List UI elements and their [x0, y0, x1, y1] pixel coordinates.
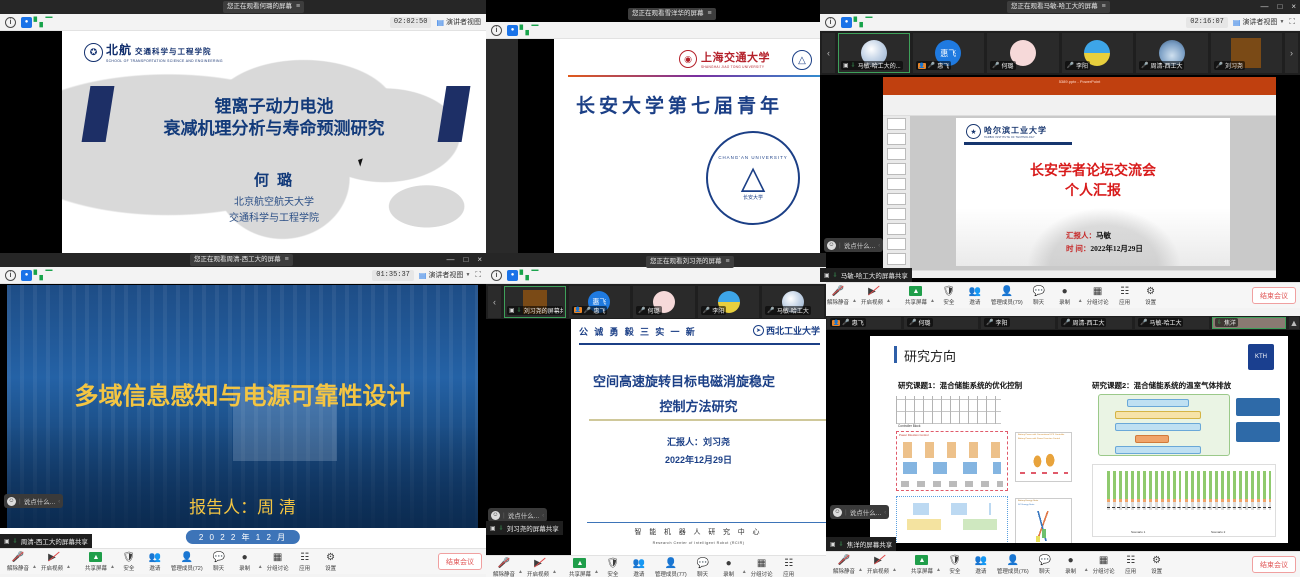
watching-label: 您正在观看周清-西工大的屏幕 — [194, 254, 281, 266]
nwpu-logo: ➤ 西北工业大学 — [753, 324, 820, 337]
record-icon: ● — [242, 552, 248, 563]
changan-small-seal: △ — [792, 50, 812, 70]
host-badge-icon: 👤 — [574, 307, 582, 313]
video-off-icon: ▶ — [48, 552, 56, 563]
hit-logo-en: HARBIN INSTITUTE OF TECHNOLOGY — [984, 136, 1047, 139]
participant-name: 刘习尧的屏幕共享 — [524, 306, 563, 315]
zoom-window-jiao-yang-2[interactable]: 👤 🎤 惠飞 🎤 何璐 🎤 李阳 🎤 — [826, 316, 1300, 577]
buaa-logo-cn: 北航 — [106, 41, 132, 58]
participant-name: 惠飞 — [937, 61, 949, 70]
participant-thumbnail[interactable]: 🎤 何璐 — [633, 286, 695, 318]
video-off-icon: ▶ — [874, 555, 882, 566]
share-screen-icon: ▲ — [909, 286, 922, 296]
mute-button[interactable]: 🎤 解除静音 — [490, 558, 518, 577]
ppt-slide-thumbnails-pane[interactable] — [883, 116, 910, 270]
participant-thumbnail[interactable]: 🎤 周清-西工大 — [1058, 317, 1132, 329]
figure-4-legend-2: Battery Power with Power Direction Contr… — [1018, 438, 1060, 440]
minimize-button[interactable]: — — [1260, 1, 1268, 13]
shared-screen-content[interactable]: 研究方向 KTH 研究课题1：混合储能系统的优化控制 研究课题2：混合储能系统的… — [826, 330, 1300, 551]
chat-icon: 💬 — [212, 552, 224, 563]
info-icon[interactable]: i — [825, 17, 836, 28]
encryption-shield-icon[interactable]: ● — [841, 17, 852, 28]
meeting-timer: 01:35:37 — [372, 270, 414, 281]
settings-button[interactable]: ⚙ 设置 — [1144, 555, 1170, 575]
participant-filmstrip[interactable]: ‹ ▣ ⇩ 刘习尧的屏幕共享 惠飞 👤 🎤 惠飞 — [486, 284, 826, 319]
share-screen-icon: ▲ — [915, 555, 928, 565]
video-icon: ▣ — [509, 307, 515, 314]
participant-filmstrip[interactable]: 👤 🎤 惠飞 🎤 何璐 🎤 李阳 🎤 — [826, 316, 1300, 330]
window-controls[interactable]: — □ × — [446, 254, 482, 266]
collapse-icon[interactable]: ‹ — [58, 498, 60, 505]
chevron-down-icon[interactable]: ▼ — [1279, 19, 1284, 25]
invite-button[interactable]: 👥 邀请 — [962, 286, 988, 306]
start-video-button[interactable]: ▶ 开启视频 — [858, 286, 886, 306]
participant-name: 何璐 — [1001, 61, 1013, 70]
participant-name-badge: ⇩ 焦洋 — [1215, 318, 1238, 327]
video-icon: ▣ — [4, 538, 10, 545]
security-button[interactable]: 🛡 安全 — [936, 286, 962, 306]
view-mode-label: 演讲者视图 — [428, 270, 463, 280]
apps-button[interactable]: ☷ 应用 — [1118, 555, 1144, 575]
chat-placeholder[interactable]: 说点什么... — [850, 507, 881, 517]
maximize-button[interactable]: □ — [463, 254, 468, 266]
view-mode-label: 演讲者视图 — [1242, 17, 1277, 27]
watching-label: 您正在观看马敏-哈工大的屏幕 — [1011, 1, 1098, 13]
zoom-window-jiao-yang[interactable]: 您正在观看雪洋华的屏幕 ≡ i ● ▘▖▔ ◉ 上海交通大学 SHANGHAI … — [486, 0, 826, 268]
powerpoint-window[interactable]: 5389.pptx - PowerPoint — [883, 77, 1276, 278]
participant-thumbnail[interactable]: 🎤 李阳 — [698, 286, 760, 318]
screen-share-icon: ⇩ — [1217, 319, 1222, 326]
shield-icon: 🛡 — [123, 552, 136, 563]
share-screen-button[interactable]: ▲ 共享屏幕 — [908, 555, 936, 575]
emoji-icon[interactable]: ☺ — [7, 497, 16, 506]
meeting-timer: 02:16:07 — [1186, 17, 1228, 28]
security-button[interactable]: 🛡 安全 — [942, 555, 968, 575]
participant-name: 周清-西工大 — [1150, 61, 1182, 70]
participant-name-badge: ▣ ⇩ 马敏-哈工大的... — [841, 61, 903, 70]
shared-screen-content[interactable]: 多域信息感知与电源可靠性设计 报告人：周 清 2 0 2 2 年 1 2 月 ☺… — [0, 284, 486, 548]
participant-name-badge: 👤 🎤 惠飞 — [830, 318, 866, 327]
slide-liu-xiyao: 公 诚 勇 毅 三 实 一 新 ➤ 西北工业大学 空间高速旋转目标电磁消旋稳定 … — [571, 319, 826, 555]
apps-button[interactable]: ☷ 应用 — [776, 558, 802, 577]
figure-1-label: Controller Block — [898, 424, 921, 428]
chat-input-overlay[interactable]: ☺ | 说点什么... ‹ — [488, 508, 547, 522]
participant-name-badge: 🎤 周清-西工大 — [1061, 318, 1106, 327]
participant-thumbnail[interactable]: 🎤 何璐 — [987, 33, 1059, 73]
participants-button[interactable]: 👤 管理成员(79) — [988, 286, 1026, 306]
chat-placeholder[interactable]: 说点什么... — [24, 496, 55, 506]
record-button[interactable]: ● 录制 — [232, 552, 258, 572]
topic-2-heading: 研究课题2：混合储能系统的温室气体排放 — [1092, 380, 1231, 391]
filmstrip-prev-button[interactable]: ‹ — [488, 286, 501, 318]
chat-icon: 💬 — [1038, 555, 1050, 566]
changan-seal: CHANG'AN UNIVERSITY △ 长安大学 — [706, 131, 800, 225]
invite-icon: 👥 — [149, 552, 161, 563]
video-icon: ▣ — [824, 272, 830, 279]
chat-button[interactable]: 💬 聊天 — [206, 552, 232, 572]
participant-thumbnail[interactable]: ▣ ⇩ 马敏-哈工大的... — [838, 33, 910, 73]
hit-logo: ★ 哈尔滨工业大学 HARBIN INSTITUTE OF TECHNOLOGY — [966, 124, 1047, 139]
network-quality-icon[interactable]: ▘▖▔ — [523, 270, 534, 281]
menu-icon[interactable]: ≡ — [1102, 1, 1106, 13]
network-quality-icon[interactable]: ▘▖▔ — [523, 25, 534, 36]
chat-placeholder[interactable]: 说点什么... — [844, 240, 875, 250]
participant-thumbnail[interactable]: ⇩ 焦洋 — [1212, 317, 1286, 329]
shared-screen-content[interactable]: 5389.pptx - PowerPoint — [820, 75, 1300, 282]
slide-title: 长安大学第七届青年 — [576, 91, 783, 118]
buaa-logo-dept: 交通科学与工程学院 — [135, 46, 212, 57]
maximize-button[interactable]: □ — [1277, 1, 1282, 13]
share-screen-button[interactable]: ▲ 共享屏幕 — [566, 558, 594, 577]
ppt-canvas[interactable]: ★ 哈尔滨工业大学 HARBIN INSTITUTE OF TECHNOLOGY… — [910, 116, 1276, 270]
titlebar: 您正在观看马敏-哈工大的屏幕 ≡ — □ × — [820, 0, 1300, 14]
info-icon[interactable]: i — [491, 25, 502, 36]
meeting-header: i ● ▘▖▔ 02:16:07 ▤ 演讲者视图 ▼ ⛶ — [820, 14, 1300, 31]
slide-title: 多域信息感知与电源可靠性设计 — [7, 376, 478, 411]
mic-muted-icon: 🎤 — [1216, 62, 1223, 69]
chat-button[interactable]: 💬 聊天 — [1026, 286, 1052, 306]
breakout-rooms-icon: ▦ — [757, 558, 766, 569]
apps-icon: ☷ — [1120, 286, 1129, 297]
participant-name: 李阳 — [1076, 61, 1088, 70]
kth-logo: KTH — [1248, 344, 1274, 370]
slide-he-lu: ✪ 北航 交通科学与工程学院 SCHOOL OF TRANSPORTATION … — [62, 31, 486, 268]
shared-screen-content[interactable]: 公 诚 勇 毅 三 实 一 新 ➤ 西北工业大学 空间高速旋转目标电磁消旋稳定 … — [486, 319, 826, 555]
slide-date-badge: 2 0 2 2 年 1 2 月 — [186, 530, 300, 544]
meeting-toolbar[interactable]: 🎤 解除静音 ▲ ▶ 开启视频 ▲ ▲ 共享屏幕 ▲ 🛡 安全 👥 邀请 — [0, 548, 486, 574]
share-status-label: 马敏-哈工大的屏幕共享 — [841, 270, 908, 280]
slide-footer-cn: 智 能 机 器 人 研 究 中 心 — [571, 527, 826, 537]
network-quality-icon[interactable]: ▘▖▔ — [37, 17, 48, 28]
mic-muted-icon: 🎤 — [12, 552, 24, 563]
start-video-button[interactable]: ▶ 开启视频 — [524, 558, 552, 577]
chat-placeholder[interactable]: 说点什么... — [508, 510, 539, 520]
filmstrip-collapse-button[interactable]: ▲ — [1289, 317, 1299, 329]
hit-logo-cn: 哈尔滨工业大学 — [984, 125, 1047, 136]
ppt-ribbon-tabs[interactable] — [883, 86, 1276, 95]
slide-title-line2: 控制方法研究 — [571, 396, 826, 415]
shield-icon: 🛡 — [943, 286, 956, 297]
mic-muted-icon: 🎤 — [992, 62, 999, 69]
figure-mpc-control: MPC Control — [896, 496, 1008, 543]
zoom-window-zhou-qing[interactable]: 您正在观看周清-西工大的屏幕 ≡ — □ × i ● ▘▖▔ 01:35:37 … — [0, 253, 486, 577]
record-button[interactable]: ● 录制 — [1058, 555, 1084, 575]
ppt-status-bar — [883, 270, 1276, 278]
close-button[interactable]: × — [477, 254, 482, 266]
slide-rule-mid — [589, 419, 826, 421]
apps-icon: ☷ — [300, 552, 309, 563]
slide-rule-top — [579, 343, 820, 345]
participants-icon: 👤 — [1007, 555, 1019, 566]
close-button[interactable]: × — [1291, 1, 1296, 13]
zoom-window-liu-xiyao[interactable]: 您正在观看刘习尧的屏幕 ≡ i ● ▘▖▔ ‹ ▣ ⇩ 刘习尧的屏幕共享 惠飞 — [486, 253, 826, 577]
mute-button[interactable]: 🎤 解除静音 — [824, 286, 852, 306]
video-icon: ▣ — [830, 541, 836, 548]
record-button[interactable]: ● 录制 — [716, 558, 742, 577]
participant-thumbnail[interactable]: 惠飞 👤 🎤 惠飞 — [913, 33, 985, 73]
collapse-icon[interactable]: ‹ — [878, 242, 880, 249]
emoji-icon[interactable]: ☺ — [827, 241, 836, 250]
buaa-logo-en: SCHOOL OF TRANSPORTATION SCIENCE AND ENG… — [106, 59, 223, 63]
participants-button[interactable]: 👤 管理成员(77) — [652, 558, 690, 577]
encryption-shield-icon[interactable]: ● — [21, 17, 32, 28]
participant-thumbnail[interactable]: 🎤 周清-西工大 — [1136, 33, 1208, 73]
info-icon[interactable]: i — [491, 270, 502, 281]
mic-muted-icon: 🎤 — [498, 558, 510, 569]
bar-chart-x-label-2: Scenario 2 — [1211, 530, 1225, 534]
figure-energy-state-chart: Battery Energy State SC Energy State — [1015, 498, 1072, 543]
zoom-window-he-lu[interactable]: 您正在观看何璐的屏幕 ≡ i ● ▘▖▔ 02:02:50 ▤ 演讲者视图 ✪ — [0, 0, 486, 268]
invite-button[interactable]: 👥 邀请 — [626, 558, 652, 577]
meeting-header: i ● ▘▖▔ 02:02:50 ▤ 演讲者视图 — [0, 14, 486, 31]
share-screen-button[interactable]: ▲ 共享屏幕 — [82, 552, 110, 572]
screen-share-icon: ⇩ — [839, 541, 844, 548]
collapse-icon[interactable]: ‹ — [884, 509, 886, 516]
invite-icon: 👥 — [633, 558, 645, 569]
menu-icon[interactable]: ≡ — [296, 1, 300, 13]
screen-grid: 您正在观看何璐的屏幕 ≡ i ● ▘▖▔ 02:02:50 ▤ 演讲者视图 ✪ — [0, 0, 1300, 577]
ppt-date-line: 时 间：2022年12月29日 — [1066, 243, 1143, 254]
video-icon: ▣ — [843, 62, 849, 69]
network-quality-icon[interactable]: ▘▖▔ — [37, 270, 48, 281]
gradient-rule — [568, 75, 826, 77]
ppt-reporter-line: 汇报人：马敏 — [1066, 230, 1111, 241]
video-options-chevron-icon[interactable]: ▲ — [892, 567, 898, 577]
network-quality-icon[interactable]: ▘▖▔ — [857, 17, 868, 28]
breakout-rooms-button[interactable]: ▦ 分组讨论 — [1090, 555, 1118, 575]
shared-screen-content[interactable]: ✪ 北航 交通科学与工程学院 SCHOOL OF TRANSPORTATION … — [0, 31, 486, 268]
info-icon[interactable]: i — [5, 270, 16, 281]
encryption-shield-icon[interactable]: ● — [507, 270, 518, 281]
screen-share-icon: ⇩ — [517, 307, 522, 314]
share-status-label: 刘习尧的屏幕共享 — [507, 523, 559, 533]
screen-share-icon: ⇩ — [499, 525, 504, 532]
breakout-rooms-icon: ▦ — [1093, 286, 1102, 297]
mic-muted-icon: 🎤 — [1063, 319, 1070, 326]
apps-button[interactable]: ☷ 应用 — [1112, 286, 1138, 306]
participants-button[interactable]: 👤 管理成员(76) — [994, 555, 1032, 575]
end-meeting-button[interactable]: 结束会议 — [1252, 556, 1296, 573]
filmstrip-next-button[interactable]: › — [1285, 33, 1298, 73]
end-meeting-button[interactable]: 结束会议 — [1252, 287, 1296, 304]
slide-presenter-line: 报告人：周 清 — [7, 493, 478, 518]
start-video-button[interactable]: ▶ 开启视频 — [864, 555, 892, 575]
minimize-button[interactable]: — — [446, 254, 454, 266]
security-button[interactable]: 🛡 安全 — [600, 558, 626, 577]
mic-muted-icon: 🎤 — [832, 286, 844, 297]
breakout-rooms-icon: ▦ — [273, 552, 282, 563]
zoom-window-ma-min[interactable]: 您正在观看马敏-哈工大的屏幕 ≡ — □ × i ● ▘▖▔ 02:16:07 … — [820, 0, 1300, 320]
view-mode-selector[interactable]: ▤ 演讲者视图 — [436, 17, 481, 27]
encryption-shield-icon[interactable]: ● — [507, 25, 518, 36]
chat-input-overlay[interactable]: ☺ | 说点什么... ‹ — [830, 505, 889, 519]
collapse-icon[interactable]: ‹ — [542, 512, 544, 519]
mic-muted-icon: 🎤 — [986, 319, 993, 326]
screen-share-icon: ⇩ — [851, 62, 856, 69]
chat-button[interactable]: 💬 聊天 — [1032, 555, 1058, 575]
invite-button[interactable]: 👥 邀请 — [142, 552, 168, 572]
letterbox-left-2 — [518, 39, 554, 255]
mic-muted-icon: 🎤 — [1141, 62, 1148, 69]
slide-jiao-yang: 研究方向 KTH 研究课题1：混合储能系统的优化控制 研究课题2：混合储能系统的… — [870, 336, 1288, 543]
participant-name-badge: 👤 🎤 惠飞 — [916, 61, 952, 70]
apps-button[interactable]: ☷ 应用 — [292, 552, 318, 572]
meeting-toolbar[interactable]: 🎤 解除静音 ▲ ▶ 开启视频 ▲ ▲ 共享屏幕 ▲ 🛡 安全 👥 邀请 — [486, 555, 826, 577]
watching-indicator[interactable]: 您正在观看马敏-哈工大的屏幕 ≡ — [1007, 1, 1110, 13]
window-controls[interactable]: — □ × — [1260, 1, 1296, 13]
emoji-icon[interactable]: ☺ — [491, 511, 500, 520]
invite-icon: 👥 — [969, 286, 981, 297]
slide-changan: ◉ 上海交通大学 SHANGHAI JIAO TONG UNIVERSITY △… — [554, 39, 826, 255]
mute-button[interactable]: 🎤 解除静音 — [4, 552, 32, 572]
mic-muted-icon: 🎤 — [638, 307, 645, 314]
participant-name-badge: 👤 🎤 惠飞 — [572, 306, 608, 315]
bar-chart-x-label-1: Scenario 1 — [1131, 530, 1145, 534]
titlebar: 您正在观看何璐的屏幕 ≡ — [0, 0, 486, 14]
breakout-rooms-icon: ▦ — [1099, 555, 1108, 566]
titlebar: 您正在观看雪洋华的屏幕 ≡ — [486, 0, 826, 14]
menu-icon[interactable]: ≡ — [285, 254, 289, 266]
host-badge-icon: 👤 — [832, 320, 840, 326]
view-mode-selector[interactable]: ▤ 演讲者视图 ▼ — [1233, 17, 1285, 27]
start-video-button[interactable]: ▶ 开启视频 — [38, 552, 66, 572]
participant-thumbnail[interactable]: 🎤 李阳 — [1062, 33, 1134, 73]
letterbox-left — [486, 39, 518, 255]
menu-icon[interactable]: ≡ — [708, 8, 712, 20]
share-screen-button[interactable]: ▲ 共享屏幕 — [902, 286, 930, 306]
participant-name: 周清-西工大 — [1072, 318, 1104, 327]
watching-indicator[interactable]: 您正在观看周清-西工大的屏幕 ≡ — [190, 254, 293, 266]
filmstrip-prev-button[interactable]: ‹ — [822, 33, 835, 73]
chat-button[interactable]: 💬 聊天 — [690, 558, 716, 577]
nwpu-logo-cn: 西北工业大学 — [766, 324, 820, 337]
fullscreen-icon[interactable]: ⛶ — [475, 270, 481, 280]
invite-icon: 👥 — [975, 555, 987, 566]
ppt-title-line1: 长安学者论坛交流会 — [956, 160, 1230, 180]
slide-title-line2: 衰减机理分析与寿命预测研究 — [62, 114, 486, 139]
record-icon: ● — [1068, 555, 1074, 566]
chat-input-overlay[interactable]: ☺ | 说点什么... ‹ — [824, 238, 883, 252]
video-options-chevron-icon[interactable]: ▲ — [552, 569, 558, 577]
watching-indicator[interactable]: 您正在观看刘习尧的屏幕 ≡ — [646, 256, 734, 268]
record-button[interactable]: ● 录制 — [1052, 286, 1078, 306]
shield-icon: 🛡 — [949, 555, 962, 566]
figure-ghg-box-2 — [1236, 422, 1280, 442]
meeting-toolbar[interactable]: 🎤 解除静音 ▲ ▶ 开启视频 ▲ ▲ 共享屏幕 ▲ 🛡 安全 👥 邀请 — [826, 551, 1300, 577]
mic-muted-icon: 🎤 — [767, 307, 774, 314]
shared-screen-content[interactable]: ◉ 上海交通大学 SHANGHAI JIAO TONG UNIVERSITY △… — [486, 39, 826, 255]
video-options-chevron-icon[interactable]: ▲ — [886, 298, 892, 308]
participant-thumbnail[interactable]: 👤 🎤 惠飞 — [827, 317, 901, 329]
breakout-rooms-button[interactable]: ▦ 分组讨论 — [1084, 286, 1112, 306]
security-button[interactable]: 🛡 安全 — [116, 552, 142, 572]
info-icon[interactable]: i — [5, 17, 16, 28]
kth-logo-text: KTH — [1255, 354, 1267, 360]
video-options-chevron-icon[interactable]: ▲ — [66, 564, 72, 574]
encryption-shield-icon[interactable]: ● — [21, 270, 32, 281]
participant-thumbnail[interactable]: 🎤 马敏-哈工大 — [762, 286, 824, 318]
fullscreen-icon[interactable]: ⛶ — [1289, 17, 1295, 27]
meeting-toolbar[interactable]: 🎤 解除静音 ▲ ▶ 开启视频 ▲ ▲ 共享屏幕 ▲ 🛡 安全 👥 邀请 — [820, 282, 1300, 308]
share-screen-icon: ▲ — [89, 552, 102, 562]
end-meeting-button[interactable]: 结束会议 — [438, 553, 482, 570]
participant-name: 马敏-哈工大的... — [858, 61, 901, 70]
figure-2-label: Power Direction Control — [899, 433, 929, 437]
participant-thumbnail[interactable]: 🎤 马敏-哈工大 — [1135, 317, 1209, 329]
meeting-header: i ● ▘▖▔ — [486, 267, 826, 284]
breakout-rooms-button[interactable]: ▦ 分组讨论 — [748, 558, 776, 577]
participant-thumbnail[interactable]: 🎤 李阳 — [981, 317, 1055, 329]
screen-share-icon: ⇩ — [833, 272, 838, 279]
topic-1-heading: 研究课题1：混合储能系统的优化控制 — [898, 380, 1022, 391]
watching-label: 您正在观看雪洋华的屏幕 — [632, 8, 704, 20]
video-off-icon: ▶ — [534, 558, 542, 569]
participant-thumbnail[interactable]: 🎤 何璐 — [904, 317, 978, 329]
participant-name-badge: 🎤 马敏-哈工大 — [1138, 318, 1183, 327]
participant-thumbnail[interactable]: 🎤 刘习尧 — [1211, 33, 1283, 73]
participant-name: 刘习尧 — [1225, 61, 1243, 70]
mic-muted-icon: 🎤 — [838, 555, 850, 566]
slide-title-line1: 空间高速旋转目标电磁消旋稳定 — [593, 371, 775, 390]
emoji-icon[interactable]: ☺ — [833, 508, 842, 517]
invite-button[interactable]: 👥 邀请 — [968, 555, 994, 575]
participant-name-badge: 🎤 何璐 — [907, 318, 933, 327]
slide-affiliation-1: 北京航空航天大学 — [62, 193, 486, 208]
breakout-rooms-button[interactable]: ▦ 分组讨论 — [264, 552, 292, 572]
ppt-ribbon[interactable] — [883, 95, 1276, 116]
participant-filmstrip[interactable]: ‹ ▣ ⇩ 马敏-哈工大的... 惠飞 👤 🎤 惠飞 — [820, 31, 1300, 75]
chevron-down-icon[interactable]: ▼ — [465, 272, 470, 278]
participant-name-badge: 🎤 李阳 — [1065, 61, 1091, 70]
settings-button[interactable]: ⚙ 设置 — [318, 552, 344, 572]
participant-name: 焦洋 — [1224, 318, 1236, 327]
share-status-bar: ▣ ⇩ 马敏-哈工大的屏幕共享 — [820, 268, 912, 282]
participants-button[interactable]: 👤 管理成员(72) — [168, 552, 206, 572]
chat-icon: 💬 — [696, 558, 708, 569]
participants-icon: 👤 — [665, 558, 677, 569]
chat-input-overlay[interactable]: ☺ | 说点什么... ‹ — [4, 494, 63, 508]
participant-thumbnail[interactable]: 惠飞 👤 🎤 惠飞 — [569, 286, 631, 318]
figure-battery-power-chart: Battery Power with Conventional LPF Cont… — [1015, 432, 1072, 482]
participant-name-badge: ▣ ⇩ 刘习尧的屏幕共享 — [507, 306, 563, 315]
share-status-label: 周清-西工大的屏幕共享 — [21, 536, 88, 546]
gear-icon: ⚙ — [1146, 286, 1155, 297]
speaker-view-icon: ▤ — [419, 271, 427, 280]
mute-button[interactable]: 🎤 解除静音 — [830, 555, 858, 575]
view-mode-selector[interactable]: ▤ 演讲者视图 ▼ — [419, 270, 471, 280]
menu-icon[interactable]: ≡ — [726, 256, 730, 268]
video-off-icon: ▶ — [868, 286, 876, 297]
figure-5-legend-2: SC Energy State — [1018, 504, 1034, 506]
meeting-timer: 02:02:50 — [390, 17, 432, 28]
slide-date: 2022年12月29日 — [571, 453, 826, 466]
mic-muted-icon: 🎤 — [842, 319, 849, 326]
sjtu-logo-cn: 上海交通大学 — [701, 49, 770, 65]
figure-controller-block — [896, 396, 1001, 424]
titlebar: 您正在观看刘习尧的屏幕 ≡ — [486, 253, 826, 267]
seal-cn: 长安大学 — [743, 194, 763, 201]
sjtu-logo: ◉ 上海交通大学 SHANGHAI JIAO TONG UNIVERSITY — [679, 49, 770, 69]
participant-name: 惠飞 — [852, 318, 864, 327]
settings-button[interactable]: ⚙ 设置 — [1138, 286, 1164, 306]
figure-lca-flow — [1098, 394, 1230, 456]
share-status-bar: ▣ ⇩ 焦洋的屏幕共享 — [826, 537, 896, 551]
ppt-title-label: 5389.pptx - PowerPoint — [883, 79, 1276, 84]
watching-indicator[interactable]: 您正在观看雪洋华的屏幕 ≡ — [628, 8, 716, 20]
ppt-titlebar: 5389.pptx - PowerPoint — [883, 77, 1276, 86]
participant-thumbnail[interactable]: ▣ ⇩ 刘习尧的屏幕共享 — [504, 286, 566, 318]
watching-indicator[interactable]: 您正在观看何璐的屏幕 ≡ — [223, 1, 304, 13]
